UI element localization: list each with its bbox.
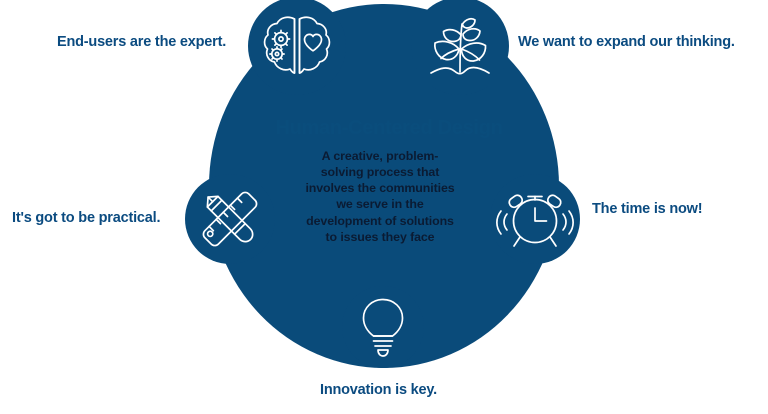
center-description-line: development of solutions <box>277 213 483 229</box>
node-circle-left <box>185 174 275 264</box>
center-description-line: we serve in the <box>277 196 483 212</box>
label-its-got-to-be-practical: It's got to be practical. <box>12 211 160 226</box>
label-end-users-are-the-expert: End-users are the expert. <box>57 35 226 50</box>
watermark-title: Human-Centered Design <box>264 117 514 140</box>
center-description: A creative, problem- solving process tha… <box>277 148 483 245</box>
center-description-line: to issues they face <box>277 229 483 245</box>
center-description-line: A creative, problem- <box>277 148 483 164</box>
infographic-canvas: Human-Centered Design A creative, proble… <box>0 0 768 414</box>
node-circle-top-left <box>248 0 346 95</box>
label-the-time-is-now: The time is now! <box>592 202 702 217</box>
center-description-line: solving process that <box>277 164 483 180</box>
center-description-line: involves the communities <box>277 180 483 196</box>
label-innovation-is-key: Innovation is key. <box>320 383 437 398</box>
label-we-want-to-expand-our-thinking: We want to expand our thinking. <box>518 35 735 50</box>
